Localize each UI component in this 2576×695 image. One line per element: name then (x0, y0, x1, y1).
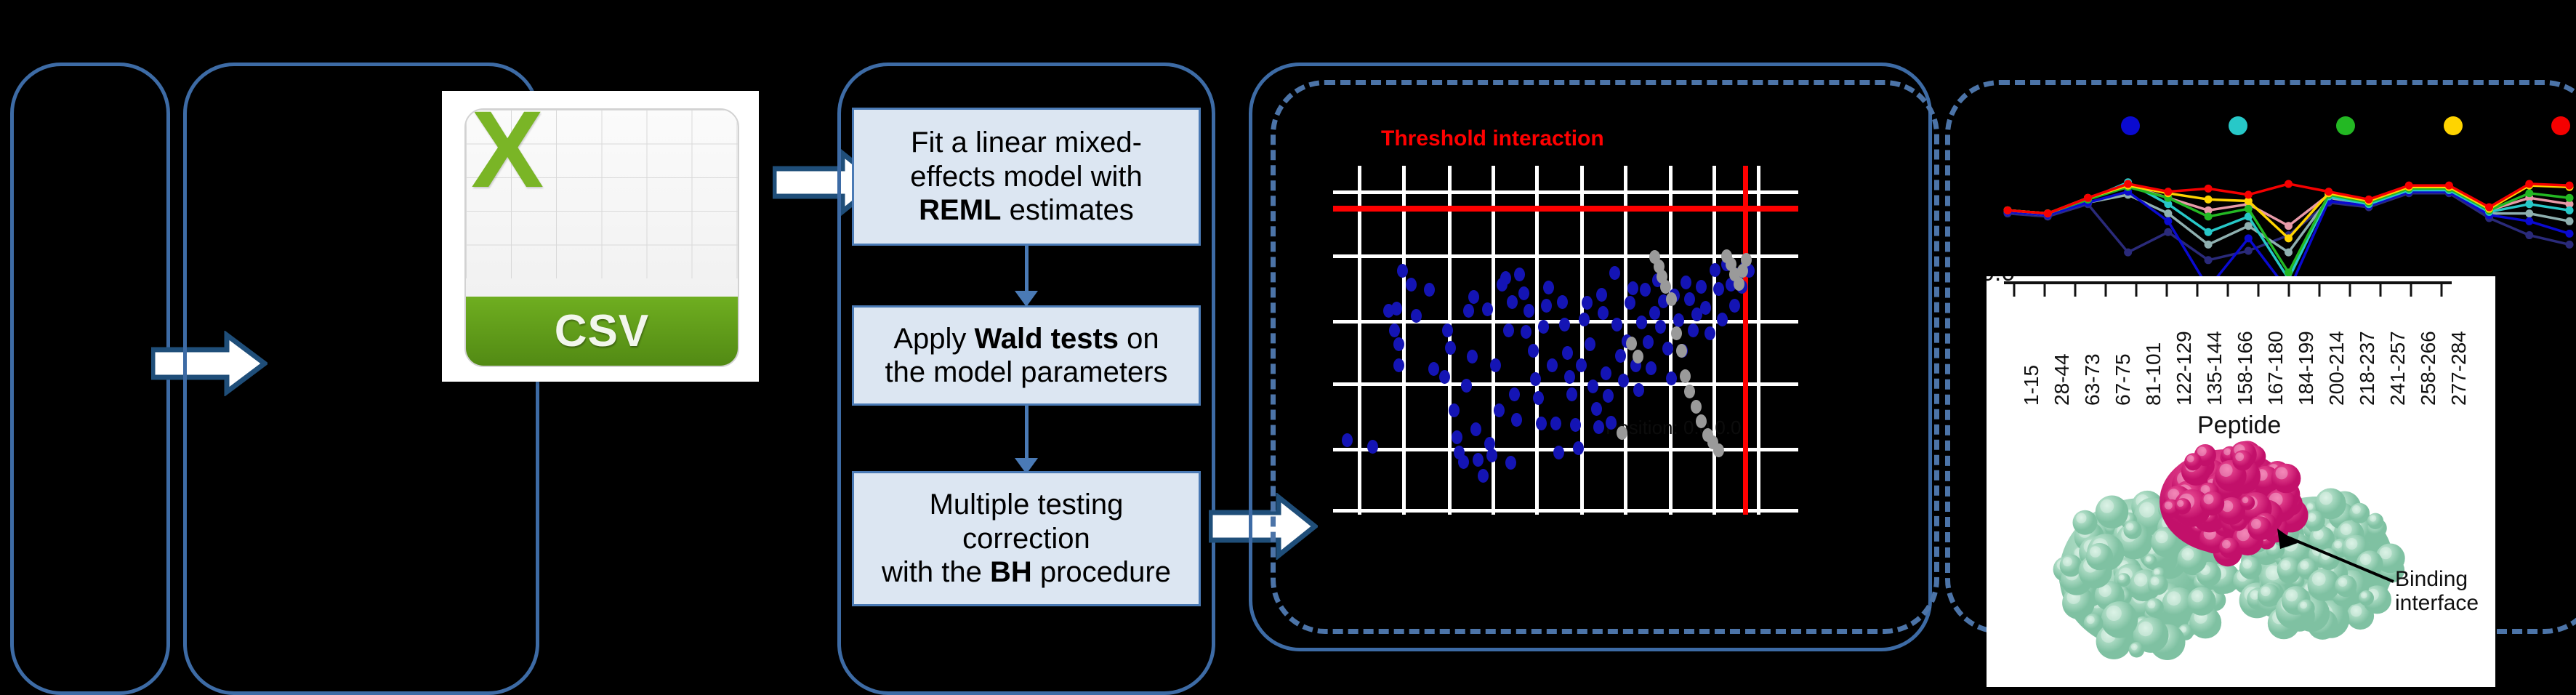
peptide-data-point (2044, 209, 2052, 217)
volcano-point (1530, 372, 1541, 386)
step-model-bold: REML (919, 194, 1001, 226)
peptide-data-point (2525, 231, 2533, 239)
peptide-data-point (2325, 188, 2333, 196)
peptide-tick-label: 200-214 (2325, 331, 2348, 406)
volcano-point (1573, 441, 1584, 455)
peptide-tick-label: 167-180 (2264, 331, 2287, 406)
peptide-data-point (2566, 182, 2574, 190)
volcano-point (1538, 320, 1549, 334)
volcano-point (1511, 413, 1522, 427)
volcano-point (1579, 313, 1590, 326)
volcano-point (1626, 337, 1637, 350)
peptide-data-point (2205, 241, 2213, 249)
peptide-data-point (2205, 196, 2213, 204)
peptide-data-point (2364, 196, 2372, 204)
peptide-data-point (2245, 205, 2253, 213)
peptide-data-point (2124, 180, 2132, 188)
volcano-point (1591, 402, 1602, 416)
connector-wald-correction (1025, 406, 1029, 462)
connector-model-wald-arrowhead (1015, 291, 1038, 307)
step-correction-pre: with the (882, 556, 990, 588)
volcano-point (1640, 283, 1651, 297)
csv-icon-body: X CSV (464, 108, 740, 367)
volcano-point (1461, 379, 1472, 393)
csv-label-band: CSV (466, 297, 738, 366)
volcano-point (1649, 306, 1660, 320)
step-model-line3: estimates (1002, 194, 1134, 226)
volcano-point (1468, 290, 1479, 304)
peptide-tick-label: 28-44 (2050, 353, 2074, 406)
peptide-tick-label: 241-257 (2386, 331, 2410, 406)
volcano-point (1666, 292, 1677, 306)
volcano-point (1696, 280, 1707, 294)
volcano-point (1509, 387, 1520, 401)
results-white-card: 0.0 1-1528-4463-7367-7581-101122-129135-… (1987, 276, 2495, 687)
peptide-tick-label: 258-266 (2417, 331, 2440, 406)
volcano-point (1503, 324, 1514, 337)
volcano-point (1393, 337, 1404, 351)
volcano-point (1449, 403, 1460, 417)
volcano-point (1541, 299, 1552, 313)
volcano-point (1393, 358, 1404, 372)
peptide-data-point (2084, 194, 2092, 202)
volcano-point (1557, 295, 1568, 309)
volcano-point (1470, 422, 1481, 436)
volcano-point (1627, 281, 1638, 295)
volcano-point (1389, 324, 1400, 337)
step-model-line1: Fit a linear mixed- (911, 126, 1142, 158)
volcano-point (1587, 379, 1598, 393)
volcano-point (1598, 306, 1609, 320)
peptide-data-point (2525, 180, 2533, 188)
step-model-box: Fit a linear mixed- effects model with R… (852, 108, 1201, 246)
volcano-point (1655, 320, 1666, 334)
volcano-plot-area: Position: 0.0 0.0 (1333, 166, 1798, 515)
volcano-point (1704, 326, 1715, 340)
volcano-point (1342, 433, 1353, 447)
volcano-point (1428, 362, 1439, 376)
volcano-point-layer (1333, 166, 1798, 515)
volcano-point (1625, 296, 1635, 310)
step-wald-line2: the model parameters (885, 356, 1167, 388)
volcano-point (1643, 335, 1654, 349)
peptide-data-point (2245, 234, 2253, 242)
volcano-point (1500, 271, 1511, 285)
legend-dot (2229, 116, 2247, 135)
step-correction-line2: correction (962, 523, 1090, 555)
volcano-point (1729, 299, 1740, 313)
volcano-point (1666, 371, 1677, 385)
volcano-point (1439, 370, 1450, 384)
step-correction-post: procedure (1032, 556, 1171, 588)
step-correction-box: Multiple testing correction with the BH … (852, 471, 1201, 606)
peptide-tick-label: 67-75 (2112, 353, 2135, 406)
volcano-point (1710, 263, 1720, 277)
volcano-point (1536, 417, 1547, 430)
volcano-point (1684, 385, 1695, 398)
peptide-data-point (2245, 246, 2253, 254)
volcano-point (1603, 389, 1614, 403)
volcano-point (1445, 341, 1456, 355)
volcano-point (1662, 342, 1673, 355)
volcano-plot: Threshold interaction Threshold state Po… (1279, 95, 1933, 618)
step-correction-bold: BH (990, 556, 1032, 588)
volcano-point (1593, 420, 1604, 434)
peptide-data-point (2205, 256, 2213, 264)
peptide-data-point (2205, 212, 2213, 220)
volcano-point (1559, 318, 1570, 332)
volcano-point (1367, 440, 1378, 454)
threshold-interaction-label: Threshold interaction (1381, 126, 1604, 151)
peptide-tick-label: 1-15 (2020, 365, 2043, 406)
volcano-point (1486, 449, 1497, 462)
peptide-tick-label: 135-144 (2203, 331, 2226, 406)
volcano-point (1615, 349, 1626, 363)
volcano-point (1550, 417, 1561, 430)
legend-dot (2551, 116, 2570, 135)
peptide-legend (1963, 109, 2576, 138)
peptide-data-point (2525, 217, 2533, 225)
volcano-point (1473, 453, 1484, 467)
peptide-data-point (2566, 194, 2574, 202)
peptide-data-point (2164, 209, 2172, 217)
peptide-data-point (2205, 185, 2213, 193)
volcano-point (1660, 280, 1671, 294)
volcano-point (1482, 302, 1493, 316)
csv-letter-x: X (471, 108, 544, 204)
volcano-point (1533, 391, 1544, 405)
peptide-data-point (2124, 249, 2132, 257)
volcano-point (1680, 369, 1691, 383)
volcano-point (1467, 350, 1478, 363)
peptide-data-point (2285, 222, 2293, 230)
volcano-point (1458, 455, 1469, 469)
volcano-point (1688, 324, 1699, 337)
volcano-point (1391, 302, 1402, 316)
step-wald-bold: Wald tests (975, 323, 1119, 355)
peptide-tick-label: 218-237 (2356, 331, 2379, 406)
volcano-point (1700, 301, 1711, 315)
volcano-point (1424, 283, 1435, 297)
protein-structure-image (1987, 433, 2495, 687)
volcano-point (1684, 292, 1695, 306)
volcano-point (1528, 344, 1539, 358)
volcano-point (1490, 358, 1501, 372)
binding-interface-line1: Binding (2395, 567, 2479, 591)
volcano-point (1713, 282, 1724, 296)
peptide-tick-labels: 1-1528-4463-7367-7581-101122-129135-1441… (1987, 276, 2495, 414)
volcano-point (1514, 268, 1525, 281)
peptide-data-point (2566, 241, 2574, 249)
volcano-point (1636, 316, 1647, 329)
slide-canvas: X CSV Fit a linear mixed- effects model … (0, 0, 2576, 687)
volcano-point (1543, 281, 1554, 294)
peptide-data-point (2285, 268, 2293, 276)
volcano-point (1713, 443, 1724, 457)
peptide-data-point (2525, 200, 2533, 208)
volcano-point (1553, 446, 1564, 459)
peptide-data-point (2405, 182, 2413, 190)
volcano-point (1562, 346, 1573, 360)
volcano-point (1442, 324, 1453, 337)
peptide-data-point (2525, 209, 2533, 217)
peptide-data-point (2566, 230, 2574, 238)
volcano-point (1673, 313, 1684, 327)
peptide-data-point (2285, 234, 2293, 242)
volcano-point (1671, 326, 1682, 340)
volcano-point (1609, 266, 1620, 280)
volcano-point (1596, 288, 1607, 302)
volcano-point (1646, 361, 1657, 375)
peptide-tick-label: 63-73 (2081, 353, 2104, 406)
step-model-line2: effects model with (910, 161, 1142, 193)
step-wald-post: on (1119, 323, 1159, 355)
peptide-data-point (2525, 189, 2533, 197)
peptide-data-point (2285, 180, 2293, 188)
csv-file-icon: X CSV (442, 91, 759, 382)
volcano-point (1618, 374, 1629, 387)
volcano-point (1585, 337, 1595, 351)
peptide-tick-label: 158-166 (2234, 331, 2257, 406)
volcano-point (1681, 276, 1691, 289)
peptide-data-point (2245, 190, 2253, 198)
peptide-tick-label: 122-129 (2173, 331, 2196, 406)
volcano-point (1566, 387, 1577, 401)
volcano-point (1406, 278, 1417, 292)
binding-interface-callout: Binding interface (2395, 567, 2479, 615)
peptide-data-point (2164, 217, 2172, 225)
volcano-point (1547, 358, 1558, 372)
peptide-data-point (2445, 182, 2453, 190)
peptide-tick-label: 184-199 (2295, 331, 2318, 406)
peptide-data-point (2205, 228, 2213, 236)
peptide-data-point (2566, 217, 2574, 225)
volcano-point (1507, 295, 1518, 309)
peptide-tick-label: 81-101 (2142, 342, 2165, 406)
step-correction-line1: Multiple testing (930, 489, 1124, 521)
peptide-data-point (2485, 204, 2493, 212)
peptide-data-point (2285, 249, 2293, 257)
volcano-point (1478, 469, 1489, 483)
peptide-data-point (2164, 228, 2172, 236)
volcano-point (1411, 309, 1422, 323)
legend-dot (2336, 116, 2355, 135)
volcano-point (1397, 264, 1408, 278)
volcano-point (1611, 318, 1622, 332)
volcano-point (1570, 418, 1581, 432)
binding-interface-line2: interface (2395, 591, 2479, 615)
volcano-point (1521, 325, 1531, 339)
csv-extension-label: CSV (555, 305, 649, 357)
volcano-point (1582, 296, 1593, 310)
volcano-point (1676, 344, 1687, 358)
volcano-point (1617, 426, 1627, 440)
volcano-point (1564, 370, 1575, 384)
volcano-point (1696, 414, 1707, 428)
volcano-point (1633, 350, 1643, 363)
volcano-point (1463, 304, 1474, 318)
step-wald-pre: Apply (893, 323, 974, 355)
peptide-data-point (2566, 206, 2574, 214)
volcano-point (1606, 416, 1617, 430)
volcano-point (1518, 286, 1529, 300)
volcano-point (1505, 456, 1516, 470)
volcano-point (1452, 430, 1462, 444)
volcano-point (1494, 403, 1505, 417)
legend-dot (2444, 116, 2463, 135)
peptide-data-point (2004, 206, 2012, 214)
connector-model-wald (1025, 246, 1029, 295)
volcano-point (1734, 277, 1744, 291)
volcano-point (1741, 253, 1752, 267)
volcano-point (1633, 383, 1644, 397)
peptide-tick-label: 277-284 (2447, 331, 2471, 406)
legend-dot (2121, 116, 2140, 135)
step-wald-box: Apply Wald tests on the model parameters (852, 305, 1201, 406)
volcano-point (1576, 358, 1587, 372)
volcano-point (1524, 304, 1534, 318)
volcano-point (1691, 400, 1702, 414)
peptide-data-point (2164, 188, 2172, 196)
volcano-point (1601, 366, 1611, 380)
volcano-point (1717, 313, 1728, 326)
input-panel (10, 63, 170, 695)
